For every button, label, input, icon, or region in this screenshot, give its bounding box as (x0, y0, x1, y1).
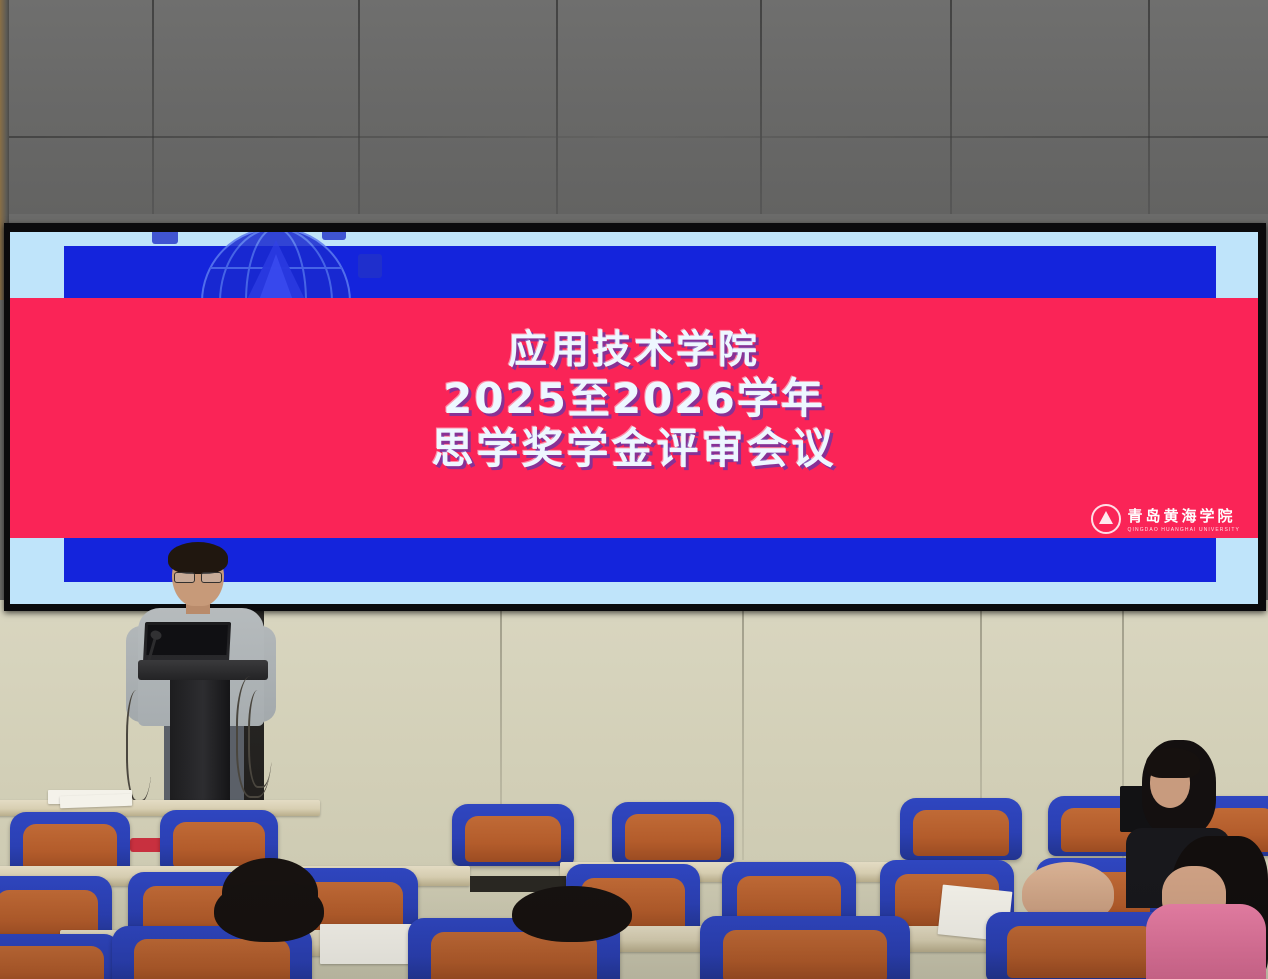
auditorium-seat (452, 804, 574, 866)
auditorium-seat (900, 798, 1022, 860)
auditorium-seat (0, 934, 120, 979)
slide-title-line-2: 2025至2026学年 (10, 374, 1258, 424)
auditorium-seat (700, 916, 910, 979)
attendee-hair (1146, 748, 1200, 778)
slide-title: 应用技术学院 2025至2026学年 思学奖学金评审会议 (10, 328, 1258, 473)
attendee-pink-top (1146, 904, 1266, 979)
university-name-en: QINGDAO HUANGHAI UNIVERSITY (1128, 527, 1241, 533)
auditorium-seat (612, 802, 734, 864)
university-name-cn: 青岛黄海学院 (1128, 505, 1241, 526)
auditorium-seat (10, 812, 130, 874)
slide-title-line-1: 应用技术学院 (10, 328, 1258, 374)
university-logo: 青岛黄海学院 QINGDAO HUANGHAI UNIVERSITY (1091, 504, 1241, 534)
cable (248, 690, 272, 788)
slide-top-band (64, 246, 1216, 298)
red-object (130, 838, 164, 852)
upper-wall-panels (0, 0, 1268, 214)
cable (126, 690, 152, 802)
attendee (214, 880, 324, 942)
slide-title-line-3: 思学奖学金评审会议 (10, 424, 1258, 474)
attendee (512, 886, 632, 942)
lecture-hall-scene: 应用技术学院 2025至2026学年 思学奖学金评审会议 青岛黄海学院 QING… (0, 0, 1268, 979)
papers-on-desk (60, 794, 132, 809)
laptop (143, 622, 231, 664)
glasses-icon (174, 572, 222, 581)
mountain-in-circle-icon (1091, 504, 1121, 534)
